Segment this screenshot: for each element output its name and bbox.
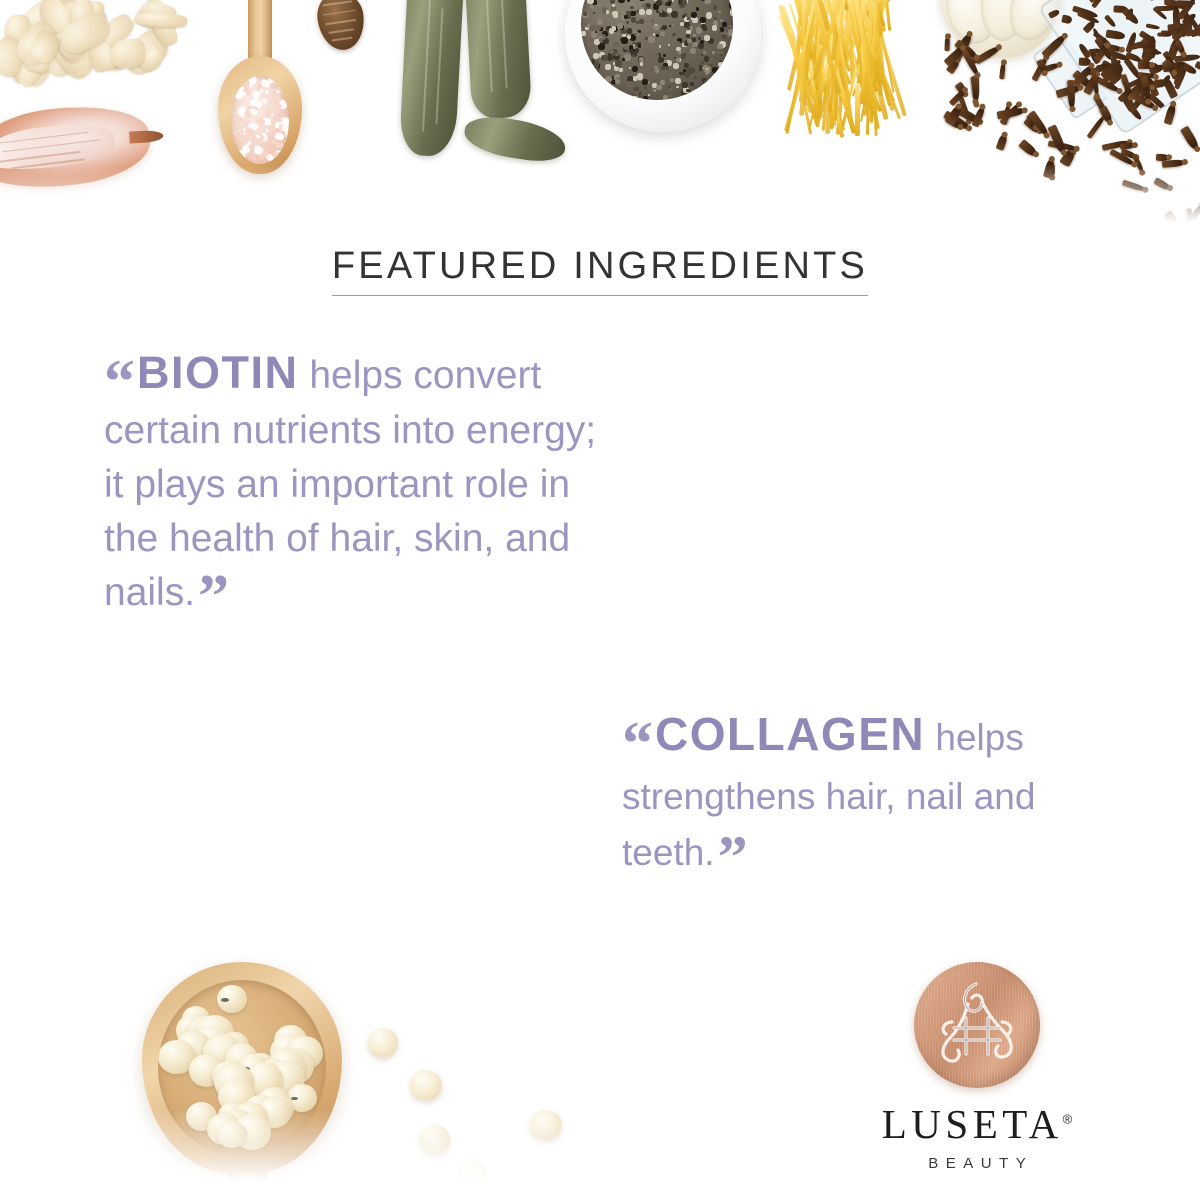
brand-name: LUSETA xyxy=(882,1101,1063,1147)
close-quote-mark: ” xyxy=(718,824,748,890)
biotin-quote-block: “BIOTIN helps convert certain nutrients … xyxy=(104,342,604,619)
section-title-container: FEATURED INGREDIENTS xyxy=(0,246,1200,296)
collagen-quote-block: “COLLAGEN helps strengthens hair, nail a… xyxy=(622,700,1152,880)
pink-salt-spoon-image xyxy=(210,0,310,190)
shallot-image xyxy=(0,98,154,197)
soybean-spoon-photo xyxy=(60,920,640,1200)
registered-trademark-icon: ® xyxy=(1063,1111,1073,1126)
biotin-lead-word: BIOTIN xyxy=(137,347,299,398)
brand-logo: LUSETA® BEAUTY xyxy=(872,962,1082,1172)
dried-ginger-chips-image xyxy=(0,0,210,82)
top-ingredients-photo-strip xyxy=(0,0,1200,235)
dried-kelp-strip-image xyxy=(399,0,465,157)
spoon-bowl xyxy=(142,962,342,1174)
ground-black-pepper-bowl-image xyxy=(565,0,761,132)
collagen-lead-word: COLLAGEN xyxy=(655,708,925,760)
close-quote-mark: ” xyxy=(198,563,229,631)
logo-wordmark: LUSETA® xyxy=(882,1104,1072,1145)
page-title: FEATURED INGREDIENTS xyxy=(332,246,868,296)
saffron-strands-image xyxy=(790,0,900,148)
dried-pod-image xyxy=(314,0,368,53)
open-quote-mark: “ xyxy=(622,710,653,778)
ornate-monogram-icon xyxy=(914,962,1040,1088)
open-quote-mark: “ xyxy=(104,348,135,416)
ingredient-feature-panel: FEATURED INGREDIENTS “BIOTIN helps conve… xyxy=(0,0,1200,1200)
logo-medallion-icon xyxy=(914,962,1040,1088)
spilled-cloves-image xyxy=(905,20,1200,235)
dried-kelp-leaf-image xyxy=(462,112,569,165)
logo-tagline: BEAUTY xyxy=(872,1155,1082,1172)
dried-kelp-strip-image xyxy=(464,0,532,119)
